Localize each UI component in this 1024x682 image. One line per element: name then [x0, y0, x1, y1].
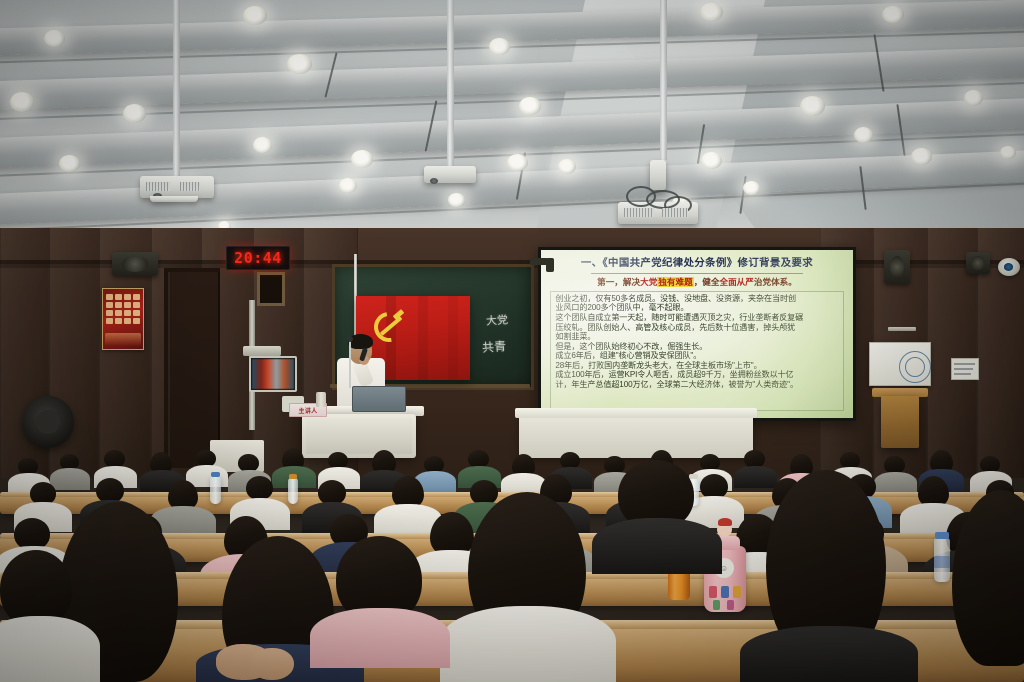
wall-speaker-right [884, 250, 910, 284]
projector-mount-pole [173, 0, 180, 178]
projector-mount-pole [660, 0, 667, 160]
whiteboard-with-university-seal [869, 342, 931, 386]
projection-screen: 一、《中国共产党纪律处分条例》修订背景及要求 第一，解决大党独有难题，健全全面从… [541, 250, 853, 418]
doll-hat [718, 518, 732, 526]
wall-speaker-left [112, 252, 158, 276]
clock-time: 20:44 [234, 249, 282, 267]
monitor-mount-head [243, 346, 281, 356]
clear-water-bottle [210, 476, 221, 504]
chalkboard-text-line-1: 大党 [485, 311, 508, 328]
wall-poster [102, 288, 144, 350]
podium-laptop [352, 386, 406, 412]
screen-bracket [546, 258, 554, 272]
lecture-hall-photo: 20:44 大党 共青 一、《中国共产党纪律处分条例》修订背景及要求 第一，解决… [0, 0, 1024, 682]
wall-notice-sign [951, 358, 979, 380]
ceiling-with-downlights [0, 0, 1024, 235]
seated-audience: ☺ CORKCICLE [0, 430, 1024, 682]
podium-nameplate-text: 主讲人 [299, 406, 318, 415]
clear-water-bottle [288, 478, 298, 504]
wall-picture-frame [257, 272, 285, 306]
wall-speaker-far-right [966, 252, 990, 274]
university-seal [899, 351, 931, 383]
ceiling-camera [998, 258, 1020, 276]
podium-mic-head [347, 336, 353, 342]
digital-wall-clock: 20:44 [226, 246, 290, 270]
hammer-and-sickle-emblem [374, 310, 408, 340]
stage-table-top [515, 408, 757, 418]
podium-mic-stand [349, 340, 351, 388]
wall-confidence-monitor [249, 356, 297, 392]
projector-mount-pole [447, 0, 454, 168]
whiteboard-rail [888, 327, 916, 331]
chalkboard-text-line-2: 共青 [481, 337, 506, 356]
podium-water-cup [316, 392, 326, 407]
